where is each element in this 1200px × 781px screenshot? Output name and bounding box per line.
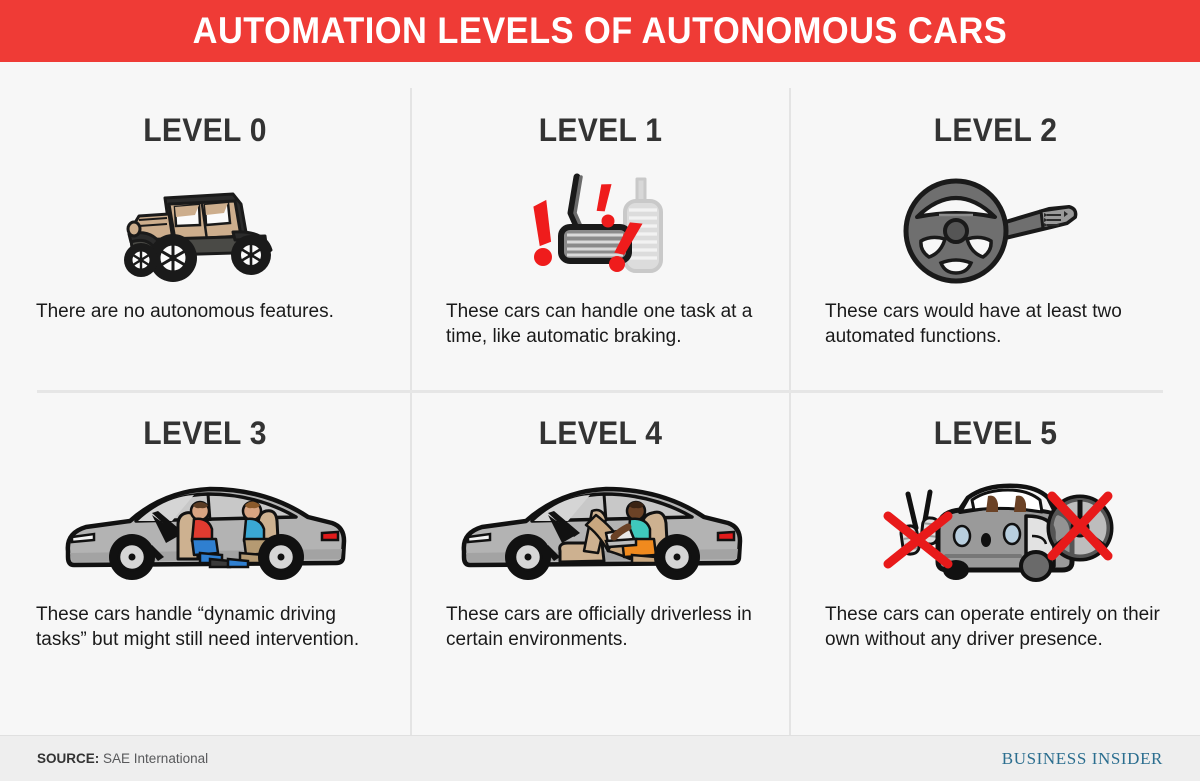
source-label: SOURCE: [37,751,99,766]
header-banner: AUTOMATION LEVELS OF AUTONOMOUS CARS [0,0,1200,62]
level-card-3: LEVEL 3 [0,393,410,693]
sedan-relaxed-passenger-icon [456,477,746,587]
level-description-2: These cars would have at least two autom… [791,299,1200,350]
level-description-0: There are no autonomous features. [0,299,410,324]
level-description-3: These cars handle “dynamic driving tasks… [0,602,410,653]
level-card-2: LEVEL 2 [791,90,1200,390]
brake-pedal-alert-icon [521,169,681,289]
page-title: AUTOMATION LEVELS OF AUTONOMOUS CARS [193,10,1008,52]
steering-wheel-stalk-icon [901,169,1091,289]
level-card-1: LEVEL 1 [412,90,789,390]
level-title-3: LEVEL 3 [12,415,397,452]
pod-car-no-controls-icon [876,470,1116,595]
level-description-5: These cars can operate entirely on their… [791,602,1200,653]
sedan-driver-passenger-icon [60,477,350,587]
level-description-4: These cars are officially driverless in … [412,602,789,653]
exclamation-left [530,200,555,266]
level-art-1 [412,159,789,299]
level-card-4: LEVEL 4 [412,393,789,693]
exclamation-middle [596,182,614,227]
level-card-5: LEVEL 5 [791,393,1200,693]
level-title-4: LEVEL 4 [423,415,777,452]
source-value: SAE International [103,751,208,766]
level-art-0 [0,159,410,299]
level-description-1: These cars can handle one task at a time… [412,299,789,350]
level-title-5: LEVEL 5 [803,415,1187,452]
source-credit: SOURCE: SAE International [37,751,208,766]
infographic-page: AUTOMATION LEVELS OF AUTONOMOUS CARS LEV… [0,0,1200,781]
footer-bar: SOURCE: SAE International BUSINESS INSID… [0,735,1200,781]
vintage-car-icon [115,174,295,284]
level-art-4 [412,462,789,602]
level-art-3 [0,462,410,602]
business-insider-logo: BUSINESS INSIDER [1002,749,1163,769]
levels-grid: LEVEL 0 [0,62,1200,735]
level-card-0: LEVEL 0 [0,90,410,390]
level-art-5 [791,462,1200,602]
level-title-0: LEVEL 0 [12,112,397,149]
level-title-2: LEVEL 2 [803,112,1187,149]
level-art-2 [791,159,1200,299]
level-title-1: LEVEL 1 [423,112,777,149]
